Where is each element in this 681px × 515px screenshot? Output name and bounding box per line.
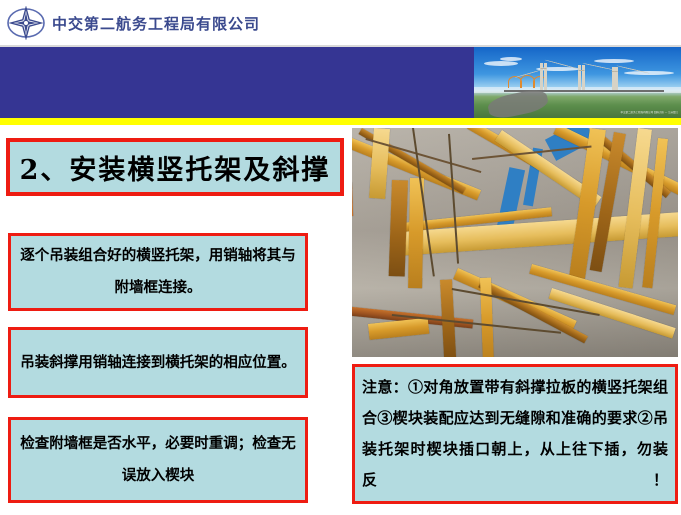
photo-caption: 中交第二航务工程局有限公司 润扬大桥 — 江苏镇江: [608, 111, 678, 115]
step-2-text: 吊装斜撑用销轴连接到横托架的相应位置。: [20, 347, 296, 379]
step-text-box-1: 逐个吊装组合好的横竖托架，用销轴将其与附墙框连接。: [8, 233, 308, 311]
bridge-tower: [582, 65, 585, 91]
company-name: 中交第二航务工程局有限公司: [52, 13, 260, 34]
bridge-tower: [544, 63, 547, 91]
suspension-bridge-photo: 中交第二航务工程局有限公司 润扬大桥 — 江苏镇江: [474, 47, 681, 118]
bridge-tower: [615, 67, 618, 91]
cloud-shape: [500, 57, 522, 61]
step-1-text: 逐个吊装组合好的横竖托架，用销轴将其与附墙框连接。: [19, 240, 297, 304]
construction-bracket-photo: [352, 128, 678, 357]
note-box: 注意：①对角放置带有斜撑拉板的横竖托架组合③楔块装配应达到无缝隙和准确的要求②吊…: [352, 364, 678, 504]
page-title: 2、安装横竖托架及斜撑: [20, 148, 331, 187]
step-text-box-2: 吊装斜撑用销轴连接到横托架的相应位置。: [8, 327, 308, 398]
company-header: 中交第二航务工程局有限公司: [0, 0, 681, 46]
banner-accent-strip: [0, 118, 681, 125]
compass-star-logo-icon: [6, 6, 46, 40]
bridge-cable: [582, 63, 614, 71]
vertical-post: [389, 180, 408, 276]
cloud-shape: [484, 61, 518, 66]
cloud-shape: [594, 59, 634, 63]
step-3-text: 检查附墙框是否水平，必要时重调；检查无误放入楔块: [19, 428, 297, 492]
step-text-box-3: 检查附墙框是否水平，必要时重调；检查无误放入楔块: [8, 417, 308, 503]
note-text: 注意：①对角放置带有斜撑拉板的横竖托架组合③楔块装配应达到无缝隙和准确的要求②吊…: [362, 372, 668, 496]
slide-title-box: 2、安装横竖托架及斜撑: [6, 138, 344, 196]
